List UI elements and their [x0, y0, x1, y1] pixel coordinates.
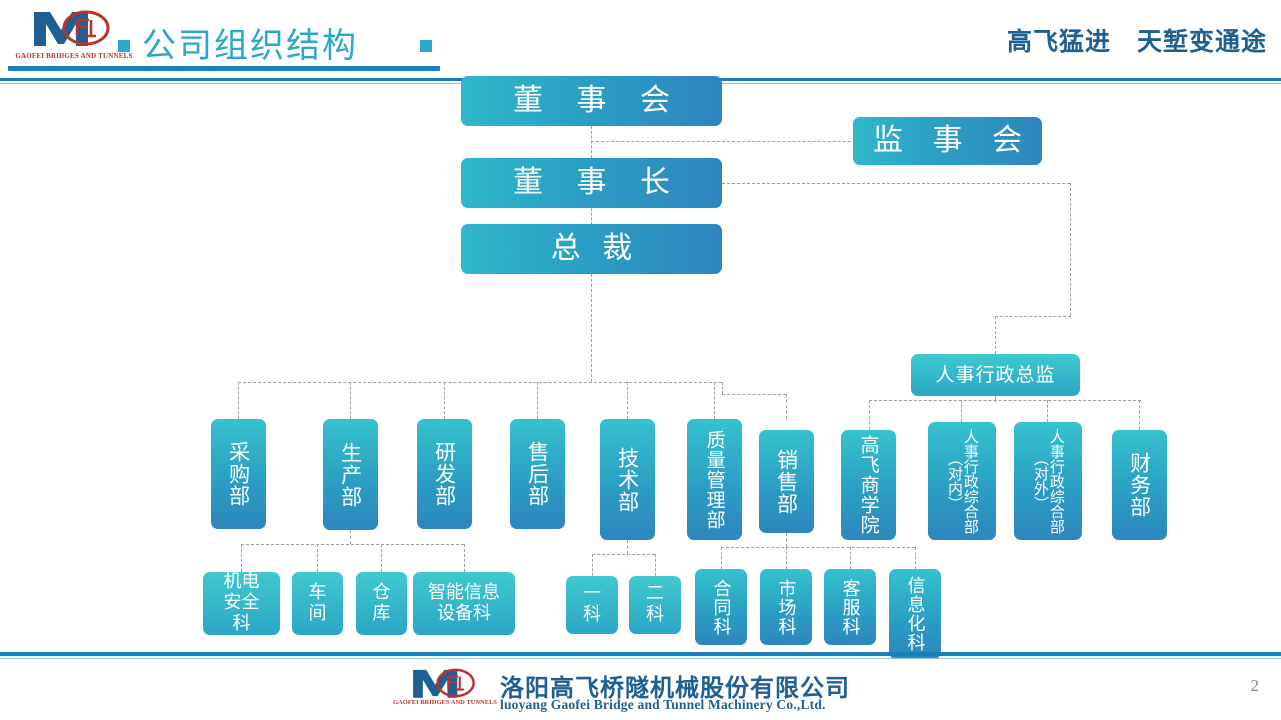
edge-to-hr-internal [961, 400, 962, 422]
node-quality[interactable]: 质量管理部 [687, 419, 742, 540]
node-sales-label: 销售部 [775, 449, 797, 515]
page-title: 公司组织结构 [142, 18, 358, 67]
edge-to-section1 [592, 554, 593, 576]
node-finance-label: 财务部 [1128, 452, 1150, 518]
edge-hr-down [995, 316, 996, 354]
edge-to-workshop [317, 544, 318, 572]
node-hr-internal[interactable]: 人事行政综合部（对内） [928, 422, 996, 540]
node-president[interactable]: 总 裁 [461, 224, 722, 274]
edge-to-aftersales [537, 382, 538, 419]
footer-logo-subtitle: GAOFEI BRIDGES AND TUNNELS [390, 699, 500, 706]
title-square-right [420, 40, 432, 52]
node-president-label: 总 裁 [545, 233, 639, 265]
node-academy[interactable]: 高飞商学院 [841, 430, 896, 540]
node-smart-info-label: 智能信息设备科 [428, 583, 500, 624]
node-smart-info[interactable]: 智能信息设备科 [413, 572, 515, 635]
edge-right-down [1070, 183, 1071, 316]
edge-to-rnd [444, 382, 445, 419]
logo-subtitle: GAOFEI BRIDGES AND TUNNELS [14, 52, 134, 60]
node-purchasing-label: 采购部 [227, 441, 249, 507]
edge-to-section2 [655, 554, 656, 576]
edge-to-customer [850, 547, 851, 569]
node-production[interactable]: 生产部 [323, 419, 378, 530]
edge-to-warehouse [381, 544, 382, 572]
node-electro-label: 机电安全科 [220, 572, 264, 634]
node-customer[interactable]: 客服科 [824, 569, 876, 645]
page-number: 2 [1251, 676, 1260, 696]
node-hr-internal-label: 人事行政综合部（对内） [946, 422, 978, 540]
node-hr-external-label: 人事行政综合部（对外） [1032, 422, 1064, 540]
node-purchasing[interactable]: 采购部 [211, 419, 266, 529]
edge-board-chairman [591, 126, 592, 158]
node-contract[interactable]: 合同科 [695, 569, 747, 645]
node-section2[interactable]: 二科 [629, 576, 681, 634]
node-chairman-label: 董 事 长 [501, 167, 682, 199]
edge-to-academy [869, 400, 870, 430]
footer-logo: GAOFEI BRIDGES AND TUNNELS [402, 665, 488, 711]
node-rnd[interactable]: 研发部 [417, 419, 472, 529]
node-warehouse-label: 仓库 [372, 583, 392, 624]
node-market-label: 市场科 [776, 579, 795, 636]
node-section1-label: 一科 [582, 584, 602, 625]
edge-to-smartinfo [464, 544, 465, 572]
node-technology[interactable]: 技术部 [600, 419, 655, 540]
title-square-left [118, 40, 130, 52]
footer-divider [0, 652, 1281, 656]
title-underline [8, 66, 440, 71]
edge-hr-stub [995, 396, 996, 402]
edge-level4-bus [238, 382, 722, 383]
node-academy-label: 高飞商学院 [858, 435, 878, 535]
header-slogan: 高飞猛进 天堑变通途 [1007, 22, 1267, 58]
logo-mark-icon [30, 6, 116, 50]
edge-to-electro [241, 544, 242, 572]
node-section2-label: 二科 [645, 584, 665, 625]
node-hr-director-label: 人事行政总监 [935, 365, 1055, 385]
edge-board-supervisors [591, 141, 861, 142]
node-aftersales[interactable]: 售后部 [510, 419, 565, 529]
edge-to-technology [627, 382, 628, 419]
edge-to-quality [714, 382, 715, 419]
edge-bus-end [722, 382, 723, 394]
node-board-label: 董 事 会 [501, 85, 682, 117]
node-production-label: 生产部 [339, 442, 361, 508]
edge-president-down [591, 274, 592, 382]
node-supervisors-label: 监 事 会 [863, 125, 1032, 157]
edge-production-bus [241, 544, 464, 545]
edge-to-market [786, 547, 787, 569]
company-logo: GAOFEI BRIDGES AND TUNNELS [14, 6, 134, 70]
edge-hr-bus [869, 400, 1141, 401]
edge-chairman-right [722, 183, 1070, 184]
node-informatize[interactable]: 信息化科 [889, 569, 941, 659]
edge-to-production [350, 382, 351, 419]
node-finance[interactable]: 财务部 [1112, 430, 1167, 540]
edge-sales-down [786, 533, 787, 547]
footer-logo-mark-icon [402, 665, 488, 701]
node-informatize-label: 信息化科 [905, 576, 924, 652]
edge-to-sales-h [722, 394, 786, 395]
node-market[interactable]: 市场科 [760, 569, 812, 645]
node-technology-label: 技术部 [616, 447, 638, 513]
footer-company-en: luoyang Gaofei Bridge and Tunnel Machine… [500, 697, 826, 713]
node-hr-director[interactable]: 人事行政总监 [911, 354, 1080, 396]
node-workshop[interactable]: 车间 [292, 572, 343, 635]
node-board[interactable]: 董 事 会 [461, 76, 722, 126]
edge-tech-down [627, 540, 628, 554]
edge-to-sales [786, 394, 787, 419]
edge-to-purchasing [238, 382, 239, 419]
node-electro[interactable]: 机电安全科 [203, 572, 280, 635]
node-section1[interactable]: 一科 [566, 576, 618, 634]
node-sales[interactable]: 销售部 [759, 430, 814, 533]
edge-to-informatize [915, 547, 916, 569]
node-rnd-label: 研发部 [433, 441, 455, 507]
edge-to-contract [721, 547, 722, 569]
node-chairman[interactable]: 董 事 长 [461, 158, 722, 208]
edge-to-finance [1139, 400, 1140, 430]
node-warehouse[interactable]: 仓库 [356, 572, 407, 635]
edge-right-to-hr [995, 316, 1071, 317]
node-customer-label: 客服科 [840, 579, 859, 636]
edge-production-down [350, 530, 351, 544]
slide-canvas: GAOFEI BRIDGES AND TUNNELS 公司组织结构 高飞猛进 天… [0, 0, 1281, 720]
edge-to-hr-external [1047, 400, 1048, 422]
node-quality-label: 质量管理部 [704, 430, 724, 530]
edge-sales-bus [721, 547, 915, 548]
node-supervisors[interactable]: 监 事 会 [853, 117, 1042, 165]
footer-divider-thin [0, 658, 1281, 659]
edge-tech-bus [592, 554, 655, 555]
node-hr-external[interactable]: 人事行政综合部（对外） [1014, 422, 1082, 540]
node-aftersales-label: 售后部 [526, 441, 548, 507]
node-contract-label: 合同科 [711, 579, 730, 636]
node-workshop-label: 车间 [308, 583, 328, 624]
